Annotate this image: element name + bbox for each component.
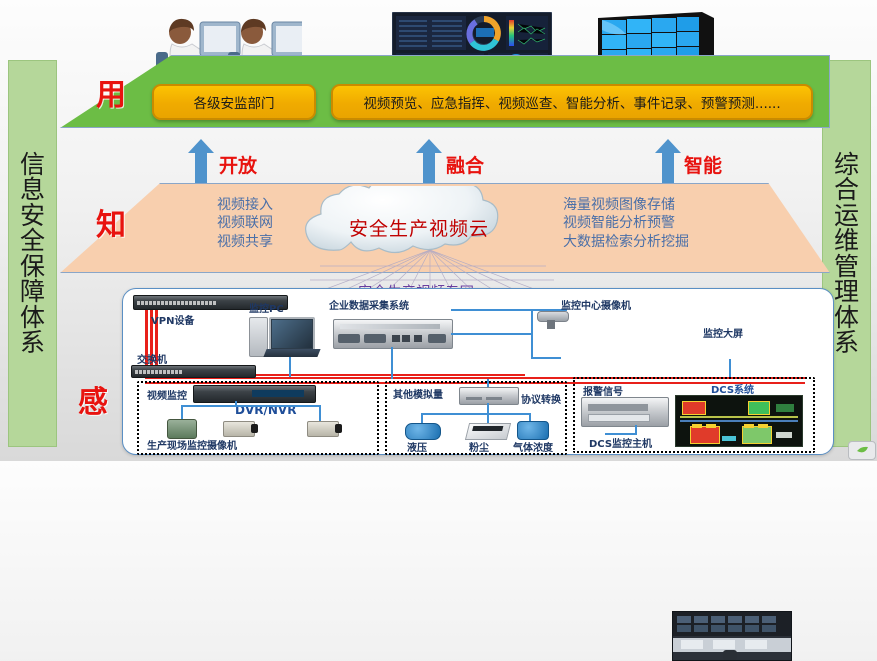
arrow-open-icon: [188, 139, 214, 187]
data-acquisition-device-icon: [333, 319, 453, 349]
link-line-blue: [531, 357, 561, 359]
arrow-fuse-icon: [416, 139, 442, 187]
sense-layer-panel: VPN设备 交换机 监控PC 企业数据采集系统 监控中心摄: [122, 288, 834, 455]
arrow-label-fuse: 融合: [446, 151, 484, 178]
left-pillar-information-security: 信 息 安 全 保 障 体 系: [8, 60, 57, 447]
pillar-char: 运: [834, 203, 859, 229]
analog-signal-group-box: 其他模拟量 协议转换 液压 粉尘 气体浓度: [385, 381, 567, 455]
pillar-char: 体: [834, 305, 859, 331]
group-title-video-monitoring: 视频监控: [147, 387, 187, 402]
device-label-switch: 交换机: [137, 351, 167, 366]
link-line-blue: [289, 357, 291, 377]
pillar-char: 理: [834, 279, 859, 305]
pillar-char: 系: [834, 330, 859, 356]
hydraulic-sensor-icon: [405, 423, 441, 440]
pillar-char: 管: [834, 254, 859, 280]
gas-sensor-icon: [517, 421, 549, 440]
pillar-char: 安: [20, 203, 45, 229]
link-line-blue: [729, 359, 731, 379]
device-label-data-acquisition: 企业数据采集系统: [329, 297, 409, 312]
group-title-analog: 其他模拟量: [393, 386, 443, 401]
arrow-label-smart: 智能: [684, 151, 722, 178]
pillar-char: 息: [20, 177, 45, 203]
cloud-title-video-cloud: 安全生产视频云: [283, 214, 555, 241]
box-safety-supervision-departments[interactable]: 各级安监部门: [152, 84, 316, 120]
switch-icon: [131, 365, 256, 378]
pc-keyboard-icon: [263, 349, 320, 357]
group-item-dust: 粉尘: [469, 439, 489, 454]
control-room-photo: [672, 611, 792, 661]
pillar-char: 保: [20, 254, 45, 280]
layer-glyph-know: 知: [96, 200, 126, 244]
box-platform-functions[interactable]: 视频预览、应急指挥、视频巡查、智能分析、事件记录、预警预测......: [331, 84, 813, 120]
corner-badge[interactable]: [848, 441, 876, 460]
cloud-right-item: 视频智能分析预警: [563, 214, 793, 232]
pillar-char: 全: [20, 228, 45, 254]
group-item-dcs-host: DCS监控主机: [589, 435, 652, 450]
group-item-hydraulic: 液压: [407, 439, 427, 454]
pillar-char: 维: [834, 228, 859, 254]
cloud-right-item: 海量视频图像存储: [563, 196, 793, 214]
cloud-left-item: 视频联网: [143, 214, 273, 232]
camera-mount: [547, 320, 555, 329]
arrow-label-open: 开放: [219, 151, 257, 178]
pillar-char: 障: [20, 279, 45, 305]
pillar-char: 信: [20, 152, 45, 178]
pillar-char: 系: [20, 330, 45, 356]
dcs-host-icon: [581, 397, 669, 427]
protocol-converter-icon: [459, 387, 519, 405]
cloud-left-item: 视频接入: [143, 196, 273, 214]
device-label-video-wall: 监控大屏: [703, 325, 743, 340]
device-label-vpn: VPN设备: [151, 312, 194, 327]
device-label-monitoring-pc: 监控PC: [249, 300, 284, 315]
layer-glyph-use: 用: [96, 70, 126, 114]
dcs-system-screen: [675, 395, 803, 447]
group-item-protocol-conversion: 协议转换: [521, 391, 561, 406]
alarm-dcs-group-box: 报警信号 DCS监控主机 DCS系统: [573, 377, 815, 453]
arrow-smart-icon: [655, 139, 681, 187]
link-line-blue: [391, 347, 393, 379]
layer-glyph-sense: 感: [78, 377, 108, 421]
box-camera-icon: [307, 421, 339, 437]
cloud-right-capabilities: 海量视频图像存储 视频智能分析预警 大数据检索分析挖掘: [563, 196, 793, 251]
pillar-char: 合: [834, 177, 859, 203]
cloud-right-item: 大数据检索分析挖掘: [563, 233, 793, 251]
ptz-camera-icon: [167, 419, 197, 439]
device-label-center-camera: 监控中心摄像机: [561, 297, 631, 312]
pc-monitor-icon: [269, 317, 315, 351]
video-monitoring-group-box: 视频监控 DVR/NVR 生产现场监控摄像机: [137, 381, 379, 455]
dvr-nvr-icon: [193, 385, 316, 403]
group-item-site-cameras: 生产现场监控摄像机: [147, 437, 237, 452]
group-item-gas-concentration: 气体浓度: [513, 439, 553, 454]
group-title-alarm-signal: 报警信号: [583, 383, 623, 398]
pillar-char: 综: [834, 152, 859, 178]
group-item-dcs-system: DCS系统: [711, 381, 754, 396]
diagram-canvas: 信 息 安 全 保 障 体 系 综 合 运 维 管 理 体 系: [0, 0, 877, 461]
link-line-blue: [451, 333, 531, 335]
cloud-left-capabilities: 视频接入 视频联网 视频共享: [143, 196, 273, 251]
link-line-blue: [531, 311, 533, 359]
leaf-icon: [856, 446, 869, 456]
cloud-left-item: 视频共享: [143, 233, 273, 251]
box-camera-icon: [223, 421, 255, 437]
pillar-char: 体: [20, 305, 45, 331]
dust-sensor-icon: [465, 423, 511, 440]
